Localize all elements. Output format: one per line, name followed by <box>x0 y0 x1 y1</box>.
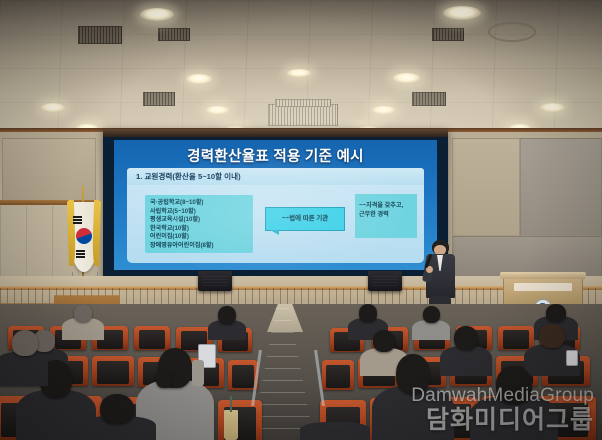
slide-right-box: ~~자격을 갖추고, 근무한 경력 <box>355 194 417 238</box>
flag-trigram <box>73 219 82 221</box>
wall-acoustic-panel <box>452 138 520 236</box>
audience-head <box>74 304 92 322</box>
audience-head <box>359 304 377 322</box>
slide-title: 경력환산율표 적용 기준 예시 <box>114 145 437 166</box>
flag-trigram <box>76 256 85 258</box>
audience-head <box>546 304 566 322</box>
speaker-monitor-icon <box>368 271 402 291</box>
audience-head <box>496 366 532 404</box>
audience-hair-bun <box>156 370 172 388</box>
audience-head <box>454 326 478 350</box>
audience-head <box>539 324 565 348</box>
audience-member <box>0 352 48 386</box>
left-box-line: 장애영유아어린이집(8할) <box>145 242 253 251</box>
left-box-line: 평생교육시설(10할) <box>145 216 253 225</box>
audience-seating <box>0 304 602 440</box>
slide-subtitle-bar: 1. 교원경력(환산율 5~10할 이내) <box>127 168 424 185</box>
speaker-monitor-icon <box>198 271 232 291</box>
flag-trigram <box>76 253 85 255</box>
right-box-line: 근무한 경력 <box>355 210 417 219</box>
left-box-line: 어린이집(10할) <box>145 233 253 242</box>
slide-center-callout: ~~법에 따른 기관 <box>265 207 345 231</box>
drink-straw <box>230 396 232 412</box>
center-callout-text: ~~법에 따른 기관 <box>266 208 344 230</box>
audience-head <box>12 330 38 356</box>
lectern-name-plate <box>514 283 572 291</box>
left-box-line: 사립학교(5~10할) <box>145 208 253 217</box>
ceiling <box>0 0 602 132</box>
presenter <box>418 240 464 312</box>
auditorium-photo: 경력환산율표 적용 기준 예시 1. 교원경력(환산율 5~10할 이내) 국·… <box>0 0 602 440</box>
audience-head <box>423 306 440 323</box>
ceiling-light-wash <box>0 0 602 132</box>
drink-cup-icon <box>224 410 238 440</box>
audience-arm <box>192 360 204 386</box>
slide-content-panel: 국·공립학교(8~10할) 사립학교(5~10할) 평생교육시설(10할) 한국… <box>127 185 424 263</box>
presentation-slide: 경력환산율표 적용 기준 예시 1. 교원경력(환산율 5~10할 이내) 국·… <box>114 140 437 270</box>
flag-trigram <box>76 250 85 252</box>
audience-head <box>100 394 134 424</box>
audience-member <box>412 320 450 340</box>
right-box-line: ~~자격을 갖추고, <box>355 194 417 210</box>
flag-trigram <box>73 222 82 224</box>
audience-member <box>440 346 492 376</box>
taeguk-symbol <box>76 228 92 244</box>
lectern-top <box>500 272 586 279</box>
flag-fringe <box>92 200 101 266</box>
audience-member <box>300 422 370 440</box>
wall-acoustic-panel <box>520 138 602 236</box>
smartphone-icon <box>566 350 578 366</box>
projection-screen: 경력환산율표 적용 기준 예시 1. 교원경력(환산율 5~10할 이내) 국·… <box>103 129 448 281</box>
audience-head <box>218 306 236 324</box>
slide-left-box: 국·공립학교(8~10할) 사립학교(5~10할) 평생교육시설(10할) 한국… <box>145 195 253 253</box>
left-box-line: 국·공립학교(8~10할) <box>145 195 253 208</box>
audience-head <box>396 354 430 394</box>
audience-head <box>373 330 395 352</box>
slide-subtitle: 1. 교원경력(환산율 5~10할 이내) <box>136 171 241 182</box>
screen-mount-bar <box>103 129 448 137</box>
audience-member <box>372 386 454 440</box>
flag-trigram <box>73 216 82 218</box>
